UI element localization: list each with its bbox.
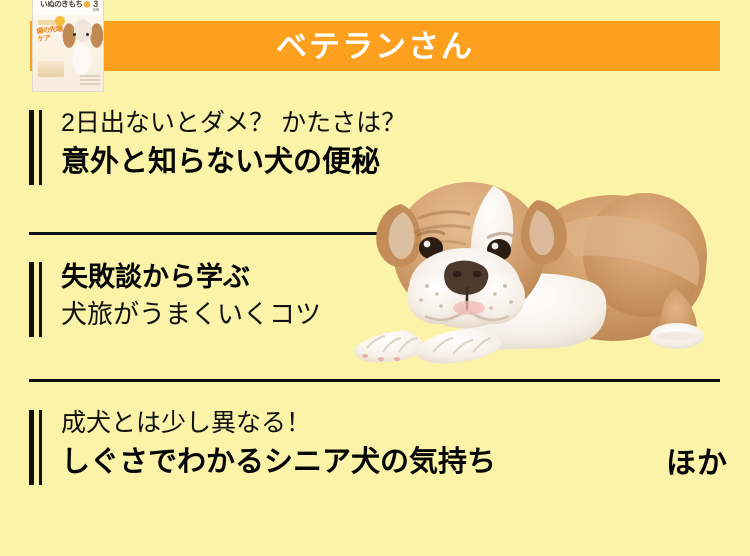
magazine-logo-label: いぬのきもち: [40, 0, 83, 9]
paw-mark-icon: [83, 1, 90, 8]
magazine-cover-artwork: 歯の先端ケア: [33, 15, 103, 91]
magazine-issue-number: 3 月号: [92, 0, 99, 13]
article-text-block: 失敗談から学ぶ 犬旅がうまくいくコツ: [61, 258, 321, 333]
article-item-constipation[interactable]: 2日出ないとダメ？ かたさは？ 意外と知らない犬の便秘: [29, 106, 406, 183]
article-text-block: 2日出ないとダメ？ かたさは？ 意外と知らない犬の便秘: [61, 106, 406, 183]
dog-eye-left: [73, 33, 76, 36]
magazine-cover-inset-photo: [38, 61, 64, 77]
dog-eye-right: [86, 33, 89, 36]
article-title: 犬旅がうまくいくコツ: [61, 296, 321, 333]
magazine-cover-headline: 歯の先端ケア: [36, 26, 64, 45]
article-text-block: 成犬とは少し異なる！ しぐさでわかるシニア犬の気持ち: [61, 406, 496, 483]
article-title: しぐさでわかるシニア犬の気持ち: [61, 442, 496, 483]
article-subtitle: 成犬とは少し異なる！: [61, 406, 496, 442]
issue-caption: 月号: [92, 9, 99, 13]
article-subtitle: 2日出ないとダメ？ かたさは？: [61, 106, 406, 142]
magazine-cover-textlines: [80, 75, 100, 87]
double-bar-marker-icon: [29, 262, 45, 337]
article-title: 意外と知らない犬の便秘: [61, 142, 406, 183]
double-bar-marker-icon: [29, 110, 45, 185]
magazine-cover-thumbnail[interactable]: いぬのきもち 3 月号 歯の先端ケア: [32, 0, 104, 92]
article-item-senior-dog[interactable]: 成犬とは少し異なる！ しぐさでわかるシニア犬の気持ち: [29, 406, 496, 483]
article-item-dog-travel[interactable]: 失敗談から学ぶ 犬旅がうまくいくコツ: [29, 258, 321, 333]
promo-card: ベテランさん いぬのきもち 3 月号 歯の先端ケア: [0, 0, 750, 556]
magazine-logo-text: いぬのきもち: [40, 1, 90, 9]
article-list: 2日出ないとダメ？ かたさは？ 意外と知らない犬の便秘 失敗談から学ぶ 犬旅がう…: [0, 0, 750, 556]
article-subtitle: 失敗談から学ぶ: [61, 258, 321, 296]
more-articles-label: ほか: [666, 449, 728, 479]
magazine-cover-dog-photo: [59, 17, 104, 79]
double-bar-marker-icon: [29, 410, 45, 485]
